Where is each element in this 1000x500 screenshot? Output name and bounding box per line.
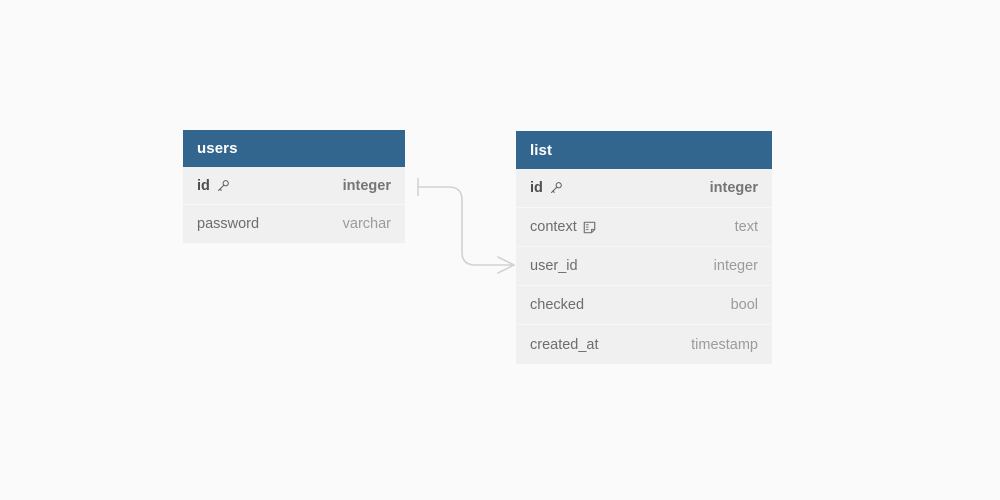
relationship-users-id-to-list-user_id[interactable] — [418, 178, 514, 273]
table-header-list[interactable]: list — [516, 131, 772, 169]
field-name-cell: created_at — [530, 337, 599, 353]
diagram-canvas: users id integer — [0, 0, 1000, 500]
field-label: checked — [530, 297, 584, 313]
relationship-layer — [0, 0, 1000, 500]
field-name-cell: id — [530, 180, 563, 196]
field-name-cell: password — [197, 216, 259, 232]
field-label: password — [197, 216, 259, 232]
table-title: users — [197, 140, 238, 157]
cardinality-many-marker — [498, 257, 514, 273]
field-row[interactable]: id integer — [183, 167, 405, 205]
field-row[interactable]: password varchar — [183, 205, 405, 243]
key-icon — [216, 179, 230, 193]
field-type-cell: integer — [714, 258, 758, 274]
note-icon — [583, 220, 597, 234]
field-row[interactable]: context text — [516, 208, 772, 247]
field-type-cell: timestamp — [691, 337, 758, 353]
table-title: list — [530, 142, 552, 159]
field-row[interactable]: id integer — [516, 169, 772, 208]
relationship-path — [418, 187, 514, 265]
table-header-users[interactable]: users — [183, 130, 405, 167]
field-type-cell: bool — [731, 297, 758, 313]
table-fields-list: id integer context — [516, 169, 772, 364]
key-icon — [549, 181, 563, 195]
table-fields-users: id integer password — [183, 167, 405, 243]
field-name-cell: user_id — [530, 258, 578, 274]
field-label: id — [197, 178, 210, 194]
field-name-cell: context — [530, 219, 597, 235]
field-label: created_at — [530, 337, 599, 353]
field-type-cell: text — [735, 219, 758, 235]
field-type-cell: integer — [710, 180, 758, 196]
field-type-cell: integer — [343, 178, 391, 194]
field-row[interactable]: created_at timestamp — [516, 325, 772, 364]
field-row[interactable]: user_id integer — [516, 247, 772, 286]
field-label: id — [530, 180, 543, 196]
field-row[interactable]: checked bool — [516, 286, 772, 325]
table-list[interactable]: list id integer — [516, 131, 772, 364]
table-users[interactable]: users id integer — [183, 130, 405, 243]
field-name-cell: id — [197, 178, 230, 194]
field-label: user_id — [530, 258, 578, 274]
field-type-cell: varchar — [343, 216, 391, 232]
field-label: context — [530, 219, 577, 235]
field-name-cell: checked — [530, 297, 584, 313]
